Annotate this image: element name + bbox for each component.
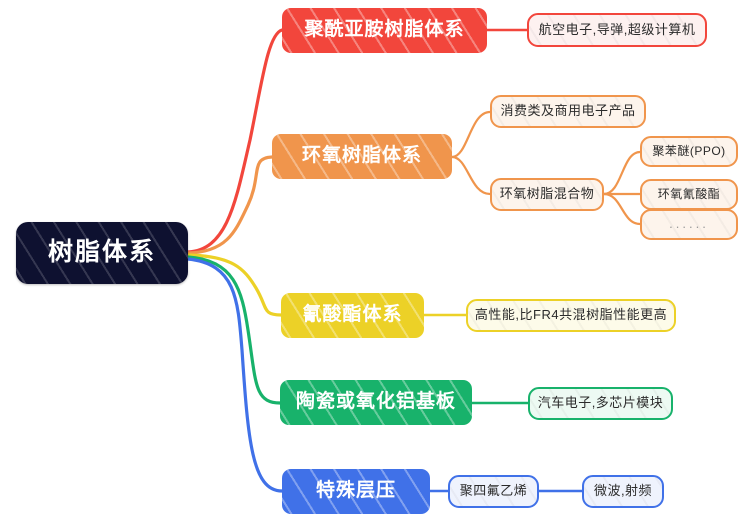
branch-node-cyanate-ester[interactable]: 氰酸酯体系 (281, 293, 424, 338)
leaf-node-automotive-mcm[interactable]: 汽车电子,多芯片模块 (528, 387, 673, 420)
branch-node-ceramic[interactable]: 陶瓷或氧化铝基板 (280, 380, 472, 425)
link-root-polyimide (188, 30, 282, 252)
leaf-node-ptfe[interactable]: 聚四氟乙烯 (448, 475, 539, 508)
link-blend-ppo (604, 152, 640, 194)
mindmap-canvas: 树脂体系 聚酰亚胺树脂体系 航空电子,导弹,超级计算机 环氧树脂体系 消费类及商… (0, 0, 744, 518)
leaf-node-polyimide-applications-label: 航空电子,导弹,超级计算机 (539, 23, 696, 37)
leaf-node-ptfe-label: 聚四氟乙烯 (460, 484, 528, 498)
leaf-node-polyimide-applications[interactable]: 航空电子,导弹,超级计算机 (527, 13, 707, 47)
leaf-node-epoxy-blend-more[interactable]: ...... (640, 209, 738, 240)
leaf-node-epoxy-cyanate-ester-label: 环氧氰酸酯 (658, 188, 721, 201)
link-root-epoxy (188, 157, 272, 253)
link-root-ceramic (188, 257, 280, 403)
link-epoxy-blend (452, 157, 490, 194)
link-root-special (188, 259, 282, 491)
leaf-node-epoxy-blend-label: 环氧树脂混合物 (500, 187, 595, 201)
branch-node-cyanate-ester-label: 氰酸酯体系 (302, 305, 402, 326)
branch-node-epoxy[interactable]: 环氧树脂体系 (272, 134, 452, 179)
leaf-node-microwave-rf[interactable]: 微波,射频 (582, 475, 664, 508)
leaf-node-consumer-electronics[interactable]: 消费类及商用电子产品 (490, 95, 646, 128)
leaf-node-epoxy-cyanate-ester[interactable]: 环氧氰酸酯 (640, 179, 738, 210)
leaf-node-cyanate-performance[interactable]: 高性能,比FR4共混树脂性能更高 (466, 299, 676, 332)
link-root-cyanate (188, 255, 281, 315)
leaf-node-cyanate-performance-label: 高性能,比FR4共混树脂性能更高 (475, 308, 667, 322)
branch-node-special-laminate-label: 特殊层压 (316, 481, 396, 502)
leaf-node-consumer-electronics-label: 消费类及商用电子产品 (500, 104, 635, 118)
leaf-node-microwave-rf-label: 微波,射频 (594, 484, 652, 498)
root-node[interactable]: 树脂体系 (16, 222, 188, 284)
link-epoxy-consumer (452, 112, 490, 157)
leaf-node-epoxy-blend-more-label: ...... (669, 217, 709, 231)
branch-node-polyimide-label: 聚酰亚胺树脂体系 (304, 20, 464, 41)
leaf-node-automotive-mcm-label: 汽车电子,多芯片模块 (538, 396, 664, 410)
root-node-label: 树脂体系 (48, 239, 156, 267)
branch-node-epoxy-label: 环氧树脂体系 (302, 146, 422, 167)
branch-node-polyimide[interactable]: 聚酰亚胺树脂体系 (282, 8, 487, 53)
link-blend-more (604, 194, 640, 224)
leaf-node-epoxy-blend[interactable]: 环氧树脂混合物 (490, 178, 604, 211)
leaf-node-ppo-label: 聚苯醚(PPO) (652, 145, 725, 158)
branch-node-ceramic-label: 陶瓷或氧化铝基板 (296, 392, 456, 413)
leaf-node-ppo[interactable]: 聚苯醚(PPO) (640, 136, 738, 167)
branch-node-special-laminate[interactable]: 特殊层压 (282, 469, 430, 514)
